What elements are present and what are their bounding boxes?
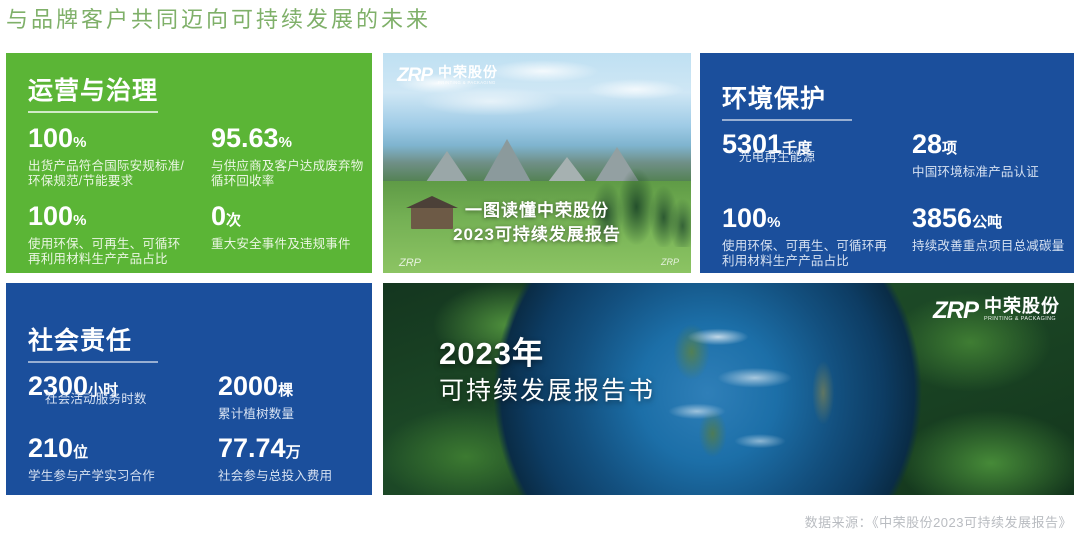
caption-line-2: 可持续发展报告书 <box>439 373 655 409</box>
logo-en: PRINTING & PACKAGING <box>984 316 1060 323</box>
panel-operations: 运营与治理 100% 出货产品符合国际安规标准/环保规范/节能要求 95.63%… <box>6 53 372 273</box>
stat-value: 95.63% <box>211 123 371 158</box>
logo-en: PRINTING & PACKAGING <box>438 80 498 86</box>
caption-line-2: 2023可持续发展报告 <box>383 223 691 247</box>
stat-social-2: 2000棵 累计植树数量 <box>218 371 372 422</box>
caption-line-1: 一图读懂中荣股份 <box>383 199 691 223</box>
stat-unit: % <box>73 212 86 229</box>
stat-value: 2000棵 <box>218 371 372 406</box>
stat-environment-2: 28项 中国环境标准产品认证 <box>912 129 1074 180</box>
logo-cn: 中荣股份 <box>984 297 1060 316</box>
stat-unit: 棵 <box>278 382 293 399</box>
stat-value: 3856公吨 <box>912 203 1074 238</box>
panel-social: 社会责任 2300小时 社会活动服务时数 2000棵 累计植树数量 210位 学… <box>6 283 372 495</box>
stat-unit: 次 <box>226 212 241 229</box>
stat-desc: 光电再生能源 <box>722 150 887 165</box>
stat-desc: 社会活动服务时数 <box>28 392 188 407</box>
panel-social-rule <box>28 361 158 363</box>
photo-mountain-caption: 一图读懂中荣股份 2023可持续发展报告 <box>383 199 691 247</box>
logo-cn: 中荣股份 <box>438 65 498 80</box>
photo-earth-report-cover: 2023年 可持续发展报告书 ZRP 中荣股份 PRINTING & PACKA… <box>383 283 1074 495</box>
stat-desc: 重大安全事件及违规事件 <box>211 237 371 252</box>
stat-value: 28项 <box>912 129 1074 164</box>
stat-unit: % <box>73 134 86 151</box>
stat-unit: % <box>279 134 292 151</box>
stat-social-1: 2300小时 社会活动服务时数 <box>28 371 188 407</box>
data-source-note: 数据来源：《中荣股份2023可持续发展报告》 <box>805 512 1072 531</box>
stat-desc: 使用环保、可再生、可循环再利用材料生产产品占比 <box>722 239 892 269</box>
stat-operations-2: 95.63% 与供应商及客户达成废弃物循环回收率 <box>211 123 371 189</box>
logo-zrp: ZRP 中荣股份 PRINTING & PACKAGING <box>933 297 1060 325</box>
panel-environment: 环境保护 5301千度 光电再生能源 28项 中国环境标准产品认证 100% 使… <box>700 53 1074 273</box>
panel-environment-heading: 环境保护 <box>722 79 826 115</box>
logo-zrp: ZRP 中荣股份 PRINTING & PACKAGING <box>397 65 498 87</box>
panel-environment-rule <box>722 119 852 121</box>
stat-unit: 万 <box>286 444 301 461</box>
stat-environment-4: 3856公吨 持续改善重点项目总减碳量 <box>912 203 1074 254</box>
stat-desc: 使用环保、可再生、可循环再利用材料生产产品占比 <box>28 237 193 267</box>
stat-environment-3: 100% 使用环保、可再生、可循环再利用材料生产产品占比 <box>722 203 892 269</box>
stat-value: 100% <box>722 203 892 238</box>
panel-social-heading: 社会责任 <box>28 321 132 357</box>
stat-social-3: 210位 学生参与产学实习合作 <box>28 433 198 484</box>
stat-desc: 持续改善重点项目总减碳量 <box>912 239 1074 254</box>
logo-mark: ZRP <box>397 65 432 87</box>
stat-value: 100% <box>28 201 193 236</box>
infographic-page: 与品牌客户共同迈向可持续发展的未来 运营与治理 100% 出货产品符合国际安规标… <box>0 0 1080 537</box>
stat-operations-1: 100% 出货产品符合国际安规标准/环保规范/节能要求 <box>28 123 188 189</box>
panel-operations-rule <box>28 111 158 113</box>
stat-desc: 与供应商及客户达成废弃物循环回收率 <box>211 159 371 189</box>
stat-desc: 出货产品符合国际安规标准/环保规范/节能要求 <box>28 159 188 189</box>
stat-operations-4: 0次 重大安全事件及违规事件 <box>211 201 371 252</box>
stat-desc: 累计植树数量 <box>218 407 372 422</box>
stat-unit: 位 <box>73 444 88 461</box>
stat-unit: % <box>767 214 780 231</box>
stat-environment-1: 5301千度 光电再生能源 <box>722 129 887 165</box>
logo-mark: ZRP <box>933 297 978 325</box>
scribble-right-mark: ZRP <box>661 257 679 267</box>
scribble-left-mark: ZRP <box>399 257 421 269</box>
caption-line-1: 2023年 <box>439 335 655 373</box>
stat-desc: 社会参与总投入费用 <box>218 469 372 484</box>
stat-value: 210位 <box>28 433 198 468</box>
photo-mountain-report-cover: ZRP 中荣股份 PRINTING & PACKAGING 一图读懂中荣股份 2… <box>383 53 691 273</box>
stat-operations-3: 100% 使用环保、可再生、可循环再利用材料生产产品占比 <box>28 201 193 267</box>
page-title: 与品牌客户共同迈向可持续发展的未来 <box>6 2 431 34</box>
stat-social-4: 77.74万 社会参与总投入费用 <box>218 433 372 484</box>
stat-unit: 公吨 <box>972 214 1002 231</box>
stat-value: 0次 <box>211 201 371 236</box>
stat-desc: 中国环境标准产品认证 <box>912 165 1074 180</box>
stat-desc: 学生参与产学实习合作 <box>28 469 198 484</box>
stat-value: 77.74万 <box>218 433 372 468</box>
stat-unit: 项 <box>942 140 957 157</box>
stat-value: 100% <box>28 123 188 158</box>
panel-operations-heading: 运营与治理 <box>28 71 158 107</box>
photo-earth-caption: 2023年 可持续发展报告书 <box>439 335 655 409</box>
